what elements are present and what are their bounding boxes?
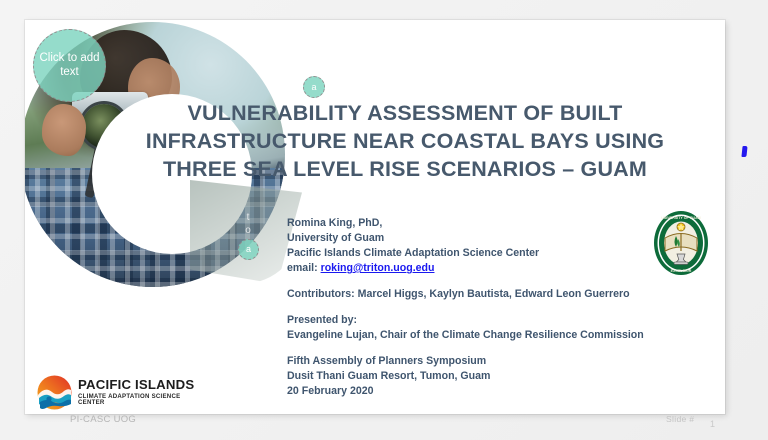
author-name: Romina King, PhD, <box>287 216 687 231</box>
author-paragraph: Romina King, PhD, University of Guam Pac… <box>287 216 687 276</box>
picasc-tagline: CLIMATE ADAPTATION SCIENCE CENTER <box>78 394 207 406</box>
placeholder-bubble-top[interactable]: a <box>303 76 325 98</box>
picasc-wordmark: PACIFIC ISLANDS CLIMATE ADAPTATION SCIEN… <box>78 378 207 405</box>
slide-number-value: 1 <box>710 419 715 429</box>
affiliation-center: Pacific Islands Climate Adaptation Scien… <box>287 246 687 261</box>
presenter-name: Evangeline Lujan, Chair of the Climate C… <box>287 328 687 343</box>
event-venue: Dusit Thani Guam Resort, Tumon, Guam <box>287 369 687 384</box>
picasc-logo: PACIFIC ISLANDS CLIMATE ADAPTATION SCIEN… <box>37 372 207 412</box>
event-paragraph: Fifth Assembly of Planners Symposium Dus… <box>287 354 687 399</box>
slide-number-label: Slide # <box>666 414 694 424</box>
slide-title[interactable]: VULNERABILITY ASSESSMENT OF BUILT INFRAS… <box>115 100 695 184</box>
picasc-wave-icon <box>37 375 72 410</box>
affiliation-university: University of Guam <box>287 231 687 246</box>
presented-by-paragraph: Presented by: Evangeline Lujan, Chair of… <box>287 313 687 343</box>
presented-by-label: Presented by: <box>287 313 687 328</box>
contributors-paragraph: Contributors: Marcel Higgs, Kaylyn Bauti… <box>287 287 687 302</box>
contributors-line: Contributors: Marcel Higgs, Kaylyn Bauti… <box>287 287 687 302</box>
email-link[interactable]: roking@triton.uog.edu <box>321 262 435 274</box>
left-hand <box>42 104 86 156</box>
picasc-name-line: PACIFIC ISLANDS <box>78 378 207 391</box>
text-cursor-marker <box>741 146 747 157</box>
placeholder-click-to-add-text[interactable]: Click to add text <box>33 29 106 102</box>
slide-surface[interactable]: VULNERABILITY ASSESSMENT OF BUILT INFRAS… <box>25 20 725 414</box>
email-row: email: roking@triton.uog.edu <box>287 261 687 276</box>
event-name: Fifth Assembly of Planners Symposium <box>287 354 687 369</box>
svg-text:UNIVERSITY OF GUAM: UNIVERSITY OF GUAM <box>661 216 700 220</box>
slide-body-text[interactable]: Romina King, PhD, University of Guam Pac… <box>287 216 687 399</box>
svg-text:EXCELSIOR: EXCELSIOR <box>671 269 692 273</box>
ring-fade-wedge <box>190 180 302 284</box>
footer-note: PI-CASC UOG <box>70 414 136 425</box>
event-date: 20 February 2020 <box>287 384 687 399</box>
placeholder-bubble-mid[interactable]: a <box>238 239 259 260</box>
email-label: email: <box>287 262 318 274</box>
editor-canvas: VULNERABILITY ASSESSMENT OF BUILT INFRAS… <box>0 0 768 440</box>
university-of-guam-seal-icon: UNIVERSITY OF GUAM EXCELSIOR <box>652 210 710 276</box>
